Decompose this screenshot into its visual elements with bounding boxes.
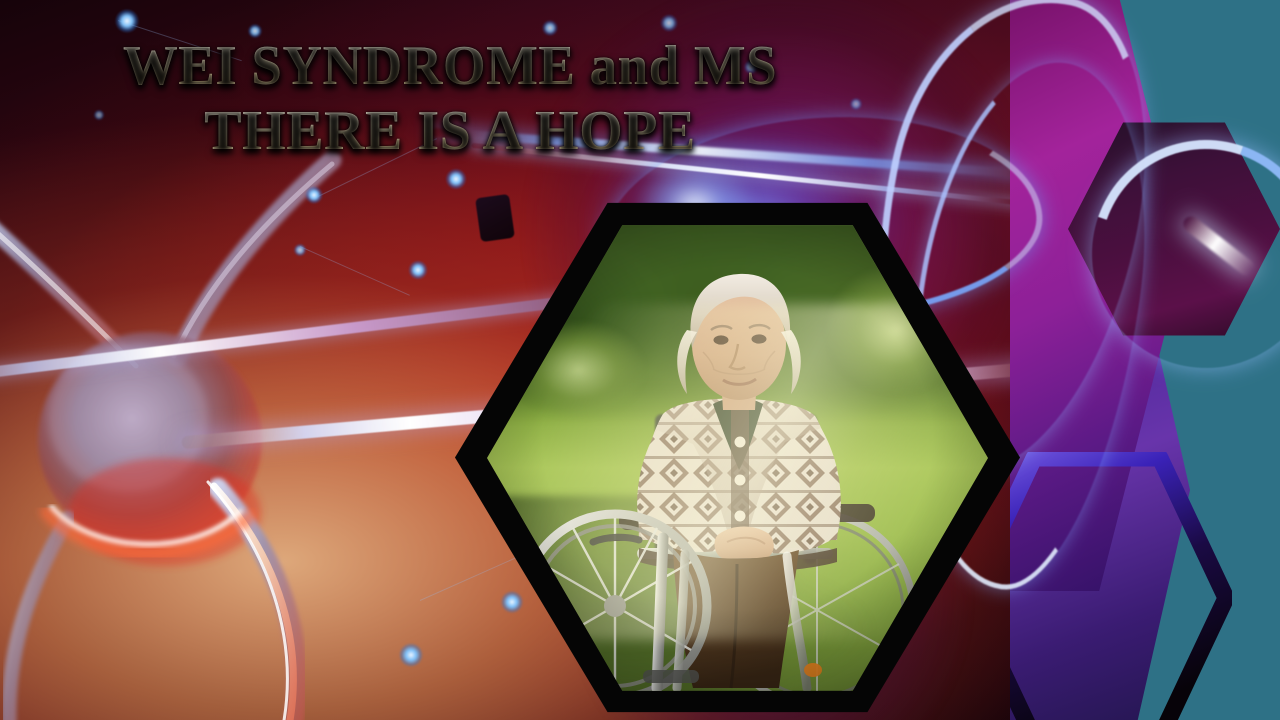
synapse-node-block <box>475 194 515 242</box>
synapse-particle <box>498 588 526 616</box>
synapse-particle <box>396 640 426 670</box>
synapse-particle <box>658 12 680 34</box>
synapse-particle <box>292 242 308 258</box>
page-title: WEI SYNDROME and MS THERE IS A HOPE <box>0 38 900 160</box>
title-line-primary: WEI SYNDROME and MS <box>9 38 891 95</box>
slide-canvas: WEI SYNDROME and MS THERE IS A HOPE <box>0 0 1280 720</box>
synapse-particle <box>443 166 469 192</box>
synapse-particle <box>303 184 325 206</box>
synapse-particle <box>406 258 430 282</box>
synapse-particle <box>112 6 142 36</box>
title-line-secondary: THERE IS A HOPE <box>0 103 900 160</box>
